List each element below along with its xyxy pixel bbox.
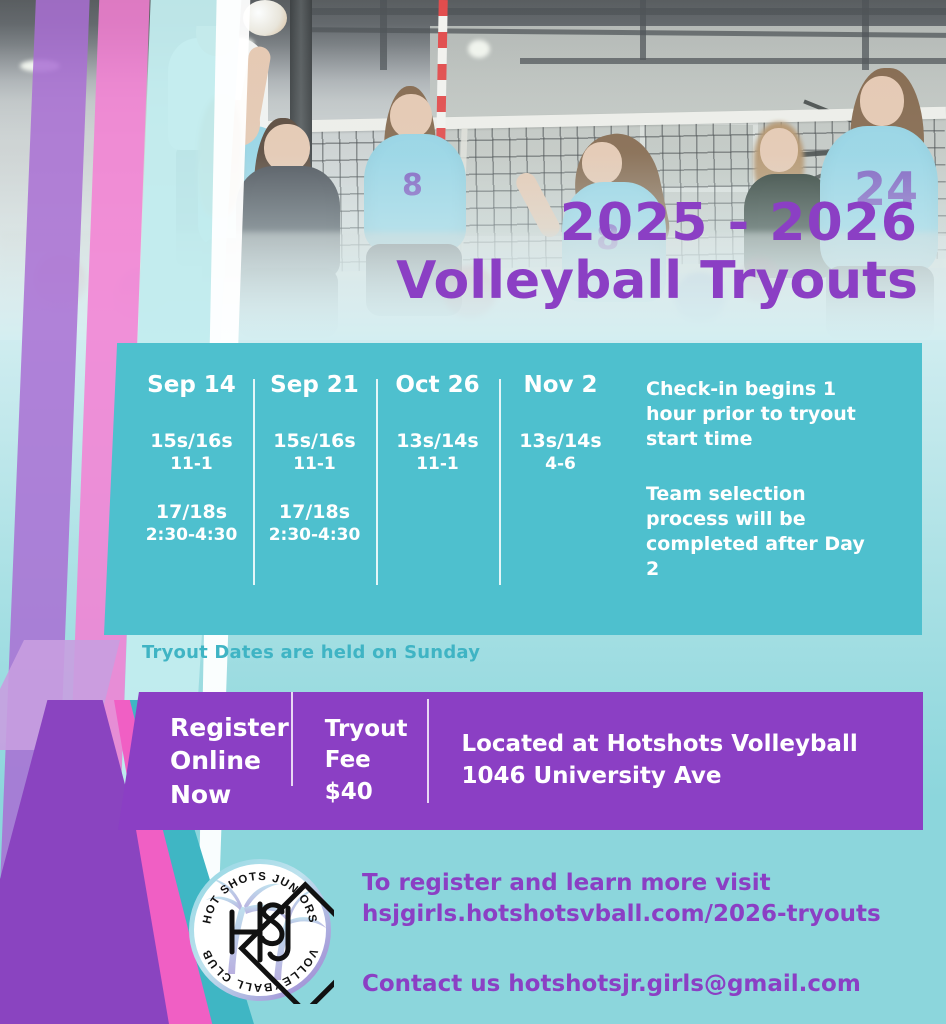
footer-visit-line: To register and learn more visit bbox=[362, 868, 881, 899]
age-group-label: 17/18s bbox=[259, 501, 370, 524]
location-text: Located at Hotshots Volleyball 1046 Univ… bbox=[423, 729, 923, 792]
age-group-time: 11-1 bbox=[136, 453, 247, 475]
schedule-panel: Sep 14 15s/16s 11-1 17/18s 2:30-4:30 Sep… bbox=[104, 343, 922, 635]
note-checkin: Check-in begins 1 hour prior to tryout s… bbox=[646, 377, 866, 452]
age-group-label: 13s/14s bbox=[382, 430, 493, 453]
schedule-group: 13s/14s 4-6 bbox=[505, 430, 616, 475]
age-group-time: 11-1 bbox=[259, 453, 370, 475]
footer-website[interactable]: hsjgirls.hotshotsvball.com/2026-tryouts bbox=[362, 899, 881, 930]
registration-banner: Register Online Now Tryout Fee $40 Locat… bbox=[118, 692, 923, 830]
footer-contact-block: To register and learn more visit hsjgirl… bbox=[362, 868, 881, 1000]
schedule-footnote: Tryout Dates are held on Sunday bbox=[142, 642, 480, 663]
schedule-column-2: Sep 21 15s/16s 11-1 17/18s 2:30-4:30 bbox=[253, 373, 376, 572]
age-group-label: 15s/16s bbox=[259, 430, 370, 453]
club-logo: HOT SHOTS JUNIORS VOLLEYBALL CLUB bbox=[186, 856, 334, 1004]
schedule-group: 17/18s 2:30-4:30 bbox=[259, 501, 370, 546]
schedule-group: 15s/16s 11-1 bbox=[136, 430, 247, 475]
schedule-date: Sep 21 bbox=[259, 373, 370, 398]
season-years: 2025 - 2026 bbox=[396, 196, 918, 251]
schedule-date: Oct 26 bbox=[382, 373, 493, 398]
tryout-fee-text: Tryout Fee $40 bbox=[289, 714, 424, 808]
title-block: 2025 - 2026 Volleyball Tryouts bbox=[396, 196, 918, 309]
schedule-group: 13s/14s 11-1 bbox=[382, 430, 493, 475]
schedule-notes: Check-in begins 1 hour prior to tryout s… bbox=[646, 373, 866, 583]
schedule-column-4: Nov 2 13s/14s 4-6 bbox=[499, 373, 622, 572]
footer-email[interactable]: Contact us hotshotsjr.girls@gmail.com bbox=[362, 969, 881, 1000]
page-title: Volleyball Tryouts bbox=[396, 253, 918, 309]
schedule-group: 17/18s 2:30-4:30 bbox=[136, 501, 247, 546]
age-group-label: 15s/16s bbox=[136, 430, 247, 453]
flyer-canvas: 8 8 24 bbox=[0, 0, 946, 1024]
schedule-columns: Sep 14 15s/16s 11-1 17/18s 2:30-4:30 Sep… bbox=[130, 373, 622, 572]
age-group-time: 4-6 bbox=[505, 453, 616, 475]
age-group-label: 13s/14s bbox=[505, 430, 616, 453]
age-group-time: 2:30-4:30 bbox=[136, 524, 247, 546]
register-online-text: Register Online Now bbox=[170, 711, 289, 811]
age-group-time: 2:30-4:30 bbox=[259, 524, 370, 546]
schedule-group: 15s/16s 11-1 bbox=[259, 430, 370, 475]
schedule-date: Sep 14 bbox=[136, 373, 247, 398]
club-logo-svg: HOT SHOTS JUNIORS VOLLEYBALL CLUB bbox=[186, 856, 334, 1004]
schedule-column-3: Oct 26 13s/14s 11-1 bbox=[376, 373, 499, 572]
age-group-label: 17/18s bbox=[136, 501, 247, 524]
schedule-column-1: Sep 14 15s/16s 11-1 17/18s 2:30-4:30 bbox=[130, 373, 253, 572]
age-group-time: 11-1 bbox=[382, 453, 493, 475]
note-team-selection: Team selection process will be completed… bbox=[646, 482, 866, 582]
schedule-date: Nov 2 bbox=[505, 373, 616, 398]
